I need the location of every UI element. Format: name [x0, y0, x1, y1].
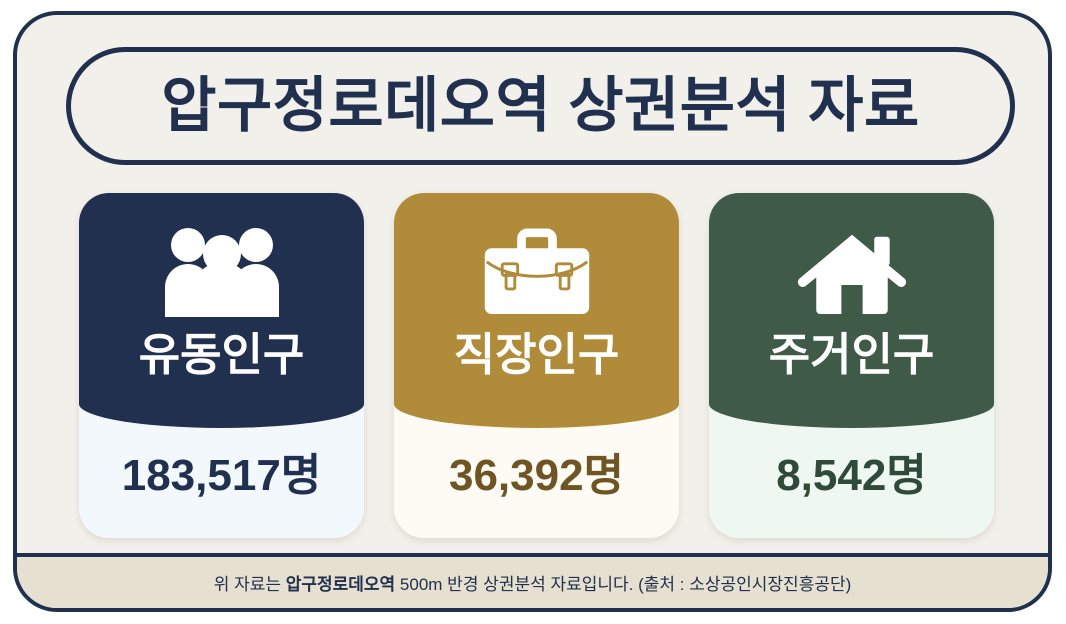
people-group-icon [160, 219, 284, 323]
stat-value: 183,517명 [122, 454, 322, 538]
stat-card-floating-population[interactable]: 183,517명 [79, 193, 364, 538]
footer-note-bar: 위 자료는 압구정로데오역 500m 반경 상권분석 자료입니다. (출처 : … [17, 553, 1048, 608]
infographic-canvas: 압구정로데오역 상권분석 자료 183,517명 [0, 0, 1066, 624]
title-pill: 압구정로데오역 상권분석 자료 [66, 47, 1015, 165]
stat-card-resident-population[interactable]: 8,542명 주거인구 [709, 193, 994, 538]
stat-card-head: 직장인구 [394, 193, 679, 428]
stat-card-worker-population[interactable]: 36,392명 [394, 193, 679, 538]
footer-station-name: 압구정로데오역 [286, 575, 395, 594]
footer-prefix: 위 자료는 [214, 575, 286, 594]
stat-label: 유동인구 [139, 331, 305, 378]
stat-label: 주거인구 [769, 331, 935, 378]
stat-value: 36,392명 [449, 454, 624, 538]
stat-card-row: 183,517명 [79, 193, 994, 538]
stat-label: 직장인구 [454, 331, 620, 378]
footer-note: 위 자료는 압구정로데오역 500m 반경 상권분석 자료입니다. (출처 : … [214, 570, 852, 595]
outer-frame: 압구정로데오역 상권분석 자료 183,517명 [13, 11, 1052, 612]
stat-value: 8,542명 [776, 454, 927, 538]
stat-card-head: 유동인구 [79, 193, 364, 428]
stat-card-head: 주거인구 [709, 193, 994, 428]
footer-suffix: 500m 반경 상권분석 자료입니다. (출처 : 소상공인시장진흥공단) [395, 575, 851, 594]
briefcase-icon [475, 219, 599, 323]
house-icon [790, 219, 914, 323]
page-title: 압구정로데오역 상권분석 자료 [161, 76, 919, 136]
